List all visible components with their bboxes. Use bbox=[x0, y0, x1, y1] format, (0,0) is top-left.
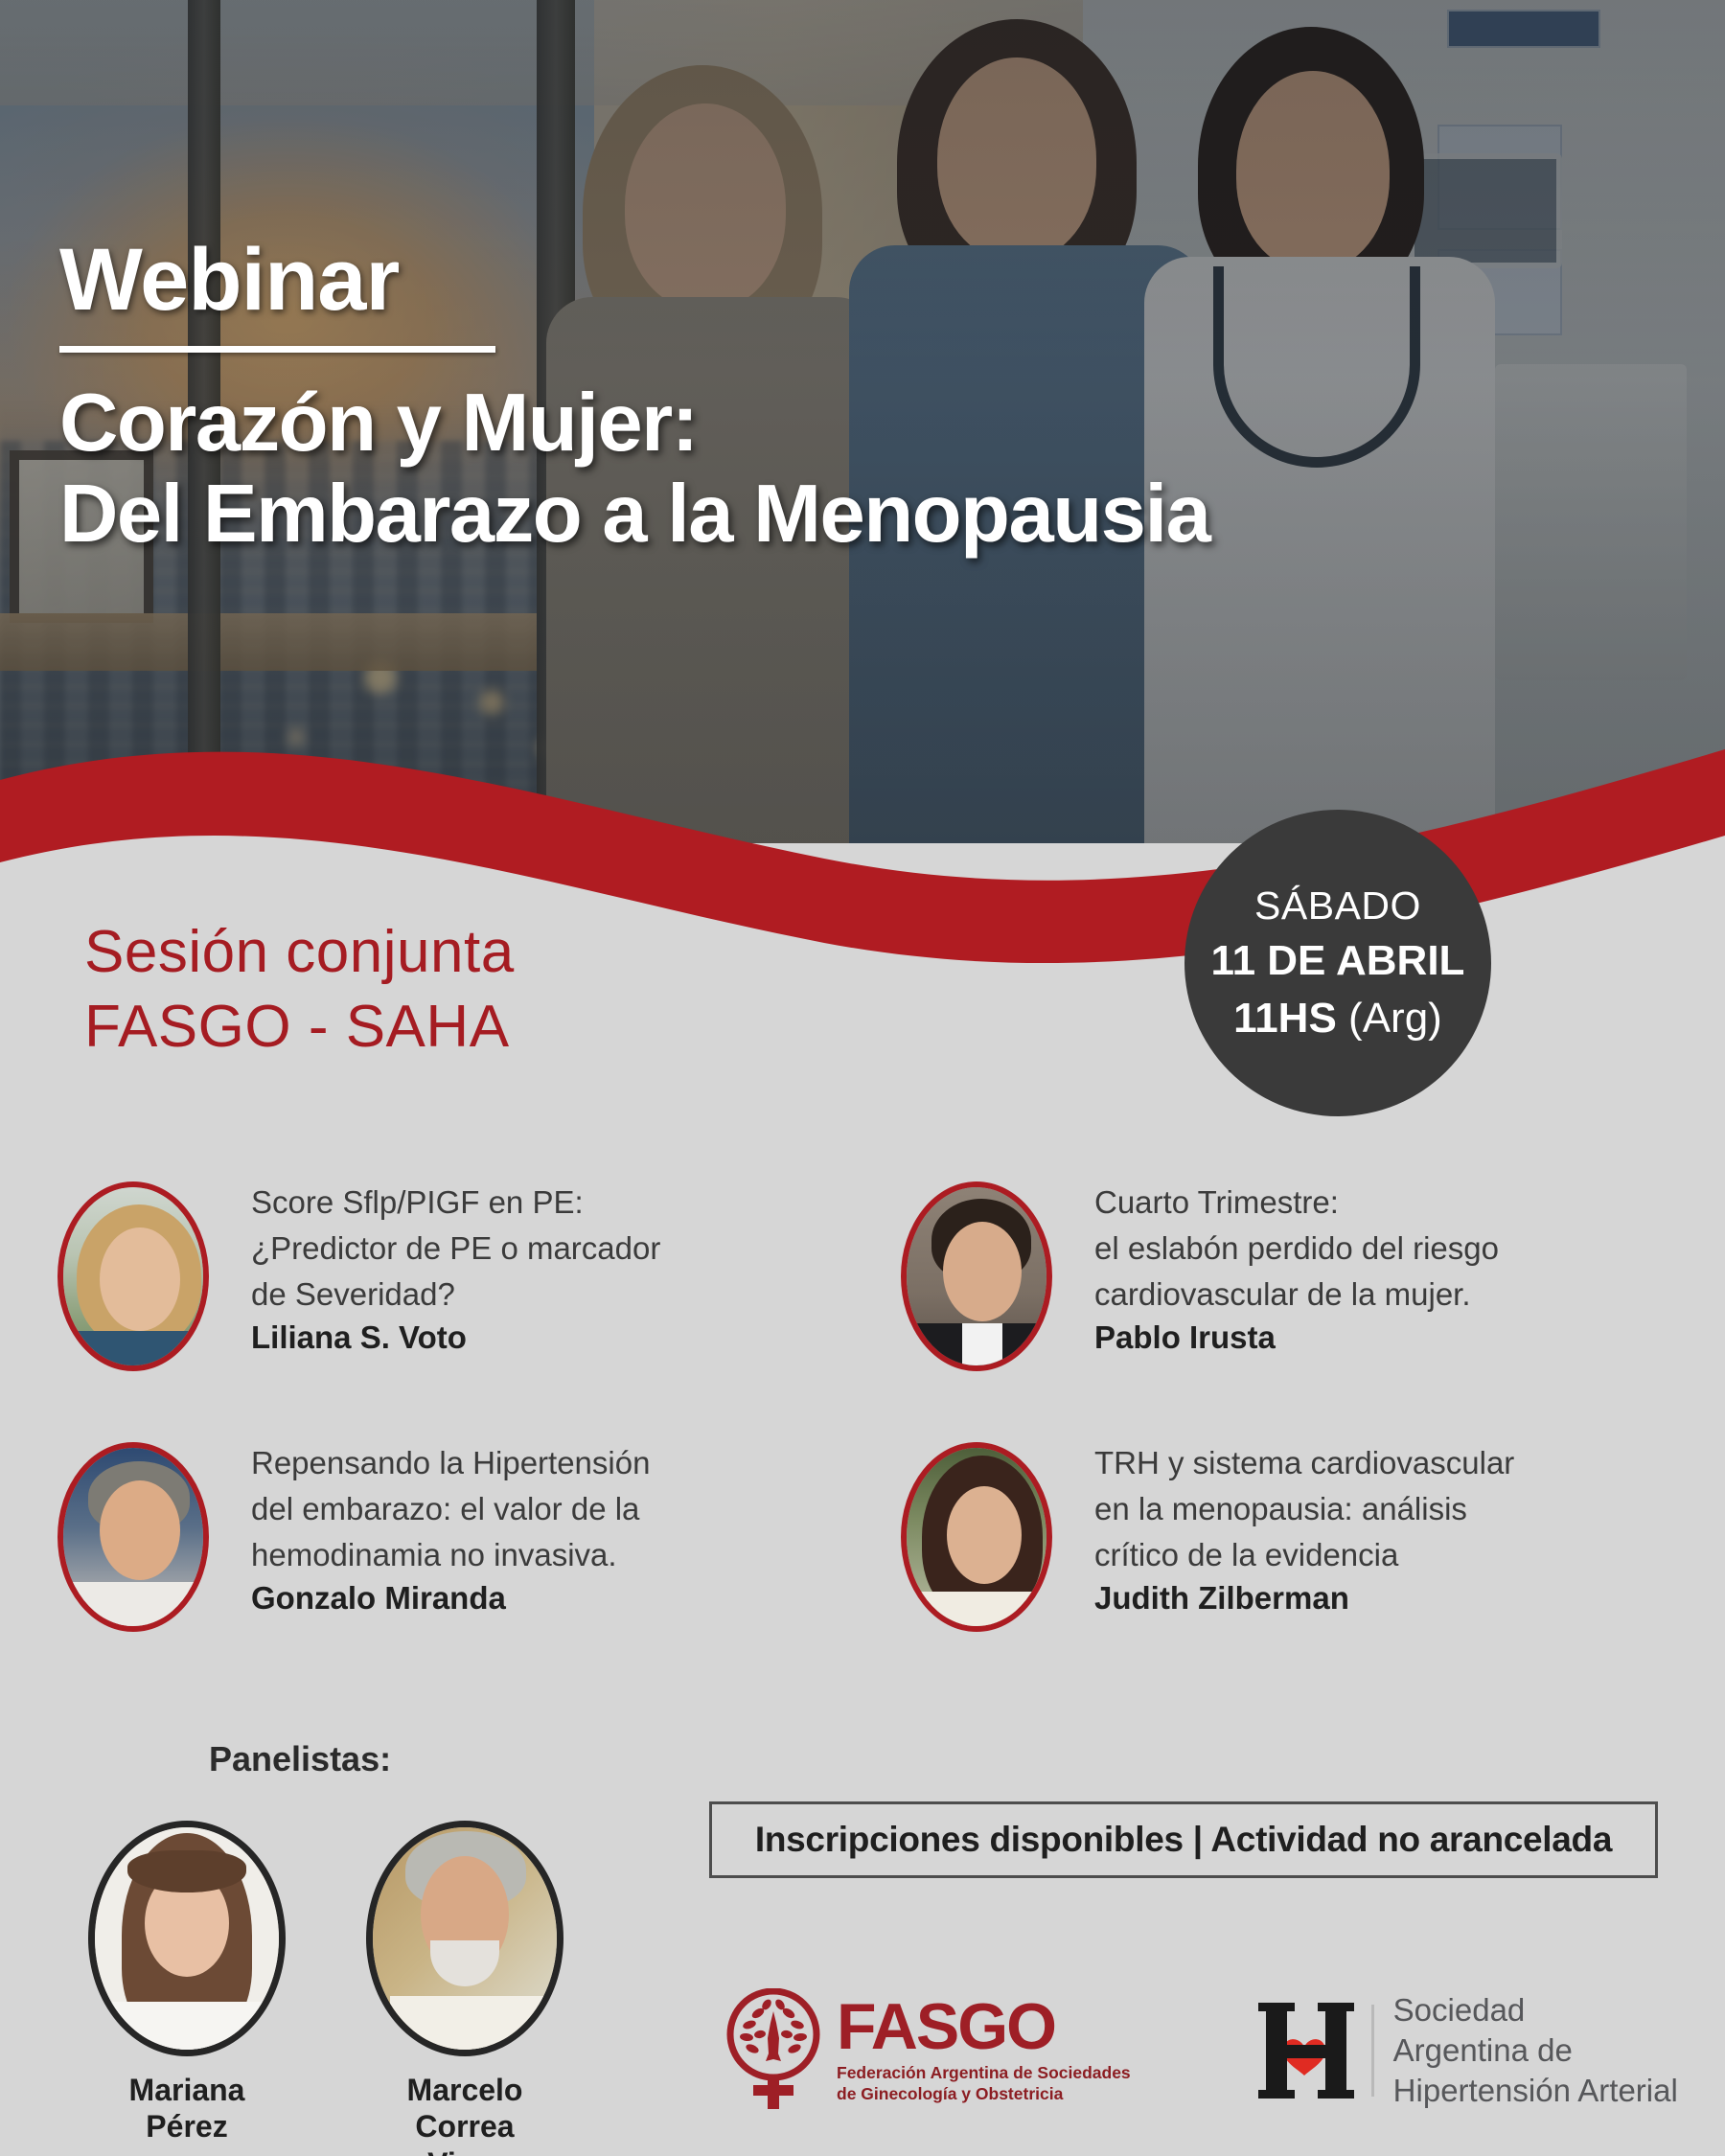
talk-line: Score Sflp/PIGF en PE: bbox=[251, 1180, 660, 1226]
speaker-info: TRH y sistema cardiovascular en la menop… bbox=[1094, 1434, 1514, 1617]
talk-line: TRH y sistema cardiovascular bbox=[1094, 1440, 1514, 1486]
panelist-name-line: Viera bbox=[355, 2145, 575, 2156]
speaker-name: Pablo Irusta bbox=[1094, 1319, 1499, 1356]
talk-line: Cuarto Trimestre: bbox=[1094, 1180, 1499, 1226]
speaker-talk-title: Cuarto Trimestre: el eslabón perdido del… bbox=[1094, 1180, 1499, 1318]
title-divider-rule bbox=[59, 346, 495, 353]
speaker-name: Gonzalo Miranda bbox=[251, 1580, 650, 1617]
speaker-name: Liliana S. Voto bbox=[251, 1319, 660, 1356]
speaker-talk-title: TRH y sistema cardiovascular en la menop… bbox=[1094, 1440, 1514, 1578]
panelist-name-line: Pérez bbox=[77, 2108, 297, 2145]
talk-line: de Severidad? bbox=[251, 1272, 660, 1318]
saha-line: Sociedad bbox=[1393, 1990, 1678, 2030]
fasgo-venus-tree-icon bbox=[724, 1988, 823, 2113]
fasgo-wordmark: FASGO Federación Argentina de Sociedades… bbox=[837, 1996, 1131, 2104]
badge-time-hour: 11HS bbox=[1233, 995, 1337, 1042]
fasgo-name: FASGO bbox=[837, 1996, 1131, 2058]
saha-line: Argentina de bbox=[1393, 2030, 1678, 2071]
talk-line: el eslabón perdido del riesgo bbox=[1094, 1226, 1499, 1272]
panelist-portrait bbox=[373, 1827, 557, 2050]
fasgo-subtitle-line: de Ginecología y Obstetricia bbox=[837, 2084, 1131, 2105]
title-block: Webinar Corazón y Mujer: Del Embarazo a … bbox=[59, 230, 1305, 560]
avatar bbox=[88, 1821, 286, 2056]
speaker-item: Score Sflp/PIGF en PE: ¿Predictor de PE … bbox=[57, 1174, 901, 1434]
panelist-portrait bbox=[95, 1827, 279, 2050]
saha-h-heart-icon bbox=[1251, 1997, 1364, 2104]
session-line-1: Sesión conjunta bbox=[84, 915, 515, 990]
registration-text: Inscripciones disponibles | Actividad no… bbox=[755, 1820, 1612, 1860]
avatar bbox=[901, 1442, 1052, 1632]
talk-line: cardiovascular de la mujer. bbox=[1094, 1272, 1499, 1318]
kicker-webinar: Webinar bbox=[59, 230, 1305, 331]
talk-line: crítico de la evidencia bbox=[1094, 1532, 1514, 1578]
speaker-item: Cuarto Trimestre: el eslabón perdido del… bbox=[901, 1174, 1696, 1434]
webinar-poster: Webinar Corazón y Mujer: Del Embarazo a … bbox=[0, 0, 1725, 2156]
avatar bbox=[901, 1181, 1052, 1371]
speakers-grid: Score Sflp/PIGF en PE: ¿Predictor de PE … bbox=[57, 1174, 1706, 1695]
speaker-portrait bbox=[907, 1187, 1046, 1365]
session-heading: Sesión conjunta FASGO - SAHA bbox=[84, 915, 515, 1064]
talk-line: del embarazo: el valor de la bbox=[251, 1486, 650, 1532]
speaker-portrait bbox=[63, 1187, 203, 1365]
speaker-portrait bbox=[63, 1448, 203, 1626]
saha-logo: Sociedad Argentina de Hipertensión Arter… bbox=[1251, 1990, 1678, 2111]
saha-wordmark: Sociedad Argentina de Hipertensión Arter… bbox=[1393, 1990, 1678, 2111]
fasgo-subtitle-line: Federación Argentina de Sociedades bbox=[837, 2063, 1131, 2084]
talk-line: Repensando la Hipertensión bbox=[251, 1440, 650, 1486]
speaker-info: Cuarto Trimestre: el eslabón perdido del… bbox=[1094, 1174, 1499, 1356]
panelist-name: Marcelo Correa Viera bbox=[355, 2072, 575, 2156]
registration-banner[interactable]: Inscripciones disponibles | Actividad no… bbox=[709, 1801, 1658, 1878]
fasgo-subtitle: Federación Argentina de Sociedades de Gi… bbox=[837, 2063, 1131, 2105]
speaker-name: Judith Zilberman bbox=[1094, 1580, 1514, 1617]
saha-divider bbox=[1371, 2005, 1374, 2097]
avatar bbox=[366, 1821, 563, 2056]
speaker-talk-title: Repensando la Hipertensión del embarazo:… bbox=[251, 1440, 650, 1578]
panelists-label: Panelistas: bbox=[209, 1739, 391, 1779]
avatar bbox=[57, 1181, 209, 1371]
panelist-name-line: Marcelo Correa bbox=[355, 2072, 575, 2145]
session-line-2: FASGO - SAHA bbox=[84, 990, 515, 1065]
badge-time: 11HS (Arg) bbox=[1233, 990, 1442, 1046]
saha-line: Hipertensión Arterial bbox=[1393, 2071, 1678, 2111]
badge-time-zone: (Arg) bbox=[1337, 995, 1442, 1042]
panelist-item: Marcelo Correa Viera bbox=[355, 1821, 575, 2156]
speaker-portrait bbox=[907, 1448, 1046, 1626]
page-title: Corazón y Mujer: Del Embarazo a la Menop… bbox=[59, 378, 1305, 560]
badge-day: SÁBADO bbox=[1254, 880, 1421, 932]
talk-line: hemodinamia no invasiva. bbox=[251, 1532, 650, 1578]
title-line-2: Del Embarazo a la Menopausia bbox=[59, 469, 1305, 560]
panelist-item: Mariana Pérez bbox=[77, 1821, 297, 2156]
speaker-info: Score Sflp/PIGF en PE: ¿Predictor de PE … bbox=[251, 1174, 660, 1356]
speaker-item: Repensando la Hipertensión del embarazo:… bbox=[57, 1434, 901, 1695]
speaker-talk-title: Score Sflp/PIGF en PE: ¿Predictor de PE … bbox=[251, 1180, 660, 1318]
talk-line: en la menopausia: análisis bbox=[1094, 1486, 1514, 1532]
fasgo-logo: FASGO Federación Argentina de Sociedades… bbox=[724, 1988, 1131, 2113]
logos-row: FASGO Federación Argentina de Sociedades… bbox=[724, 1988, 1678, 2113]
talk-line: ¿Predictor de PE o marcador bbox=[251, 1226, 660, 1272]
title-line-1: Corazón y Mujer: bbox=[59, 378, 1305, 469]
badge-date: 11 DE ABRIL bbox=[1211, 932, 1465, 989]
avatar bbox=[57, 1442, 209, 1632]
panelist-name: Mariana Pérez bbox=[77, 2072, 297, 2145]
date-badge: SÁBADO 11 DE ABRIL 11HS (Arg) bbox=[1184, 810, 1491, 1116]
speaker-info: Repensando la Hipertensión del embarazo:… bbox=[251, 1434, 650, 1617]
speaker-item: TRH y sistema cardiovascular en la menop… bbox=[901, 1434, 1696, 1695]
panelist-name-line: Mariana bbox=[77, 2072, 297, 2108]
panelists-list: Mariana Pérez Marcelo Correa Viera bbox=[77, 1821, 575, 2156]
